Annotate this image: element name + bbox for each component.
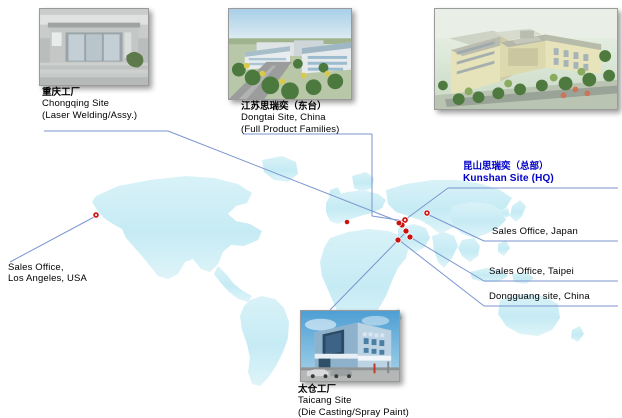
marker-japan (424, 210, 430, 216)
label-los-angeles-line1: Sales Office, (8, 262, 87, 273)
marker-los-angeles (93, 212, 99, 218)
label-chongqing-en: Chongqing Site (42, 98, 137, 109)
label-dongtai-detail: (Full Product Families) (241, 124, 339, 135)
marker-taicang (403, 228, 409, 234)
label-los-angeles-line2: Los Angeles, USA (8, 273, 87, 284)
label-dongtai-en: Dongtai Site, China (241, 112, 339, 123)
label-taicang-en: Taicang Site (298, 395, 409, 406)
label-taicang-detail: (Die Casting/Spray Paint) (298, 407, 409, 418)
global-site-map: 重庆工厂 Chongqing Site (Laser Welding/Assy.… (0, 0, 622, 418)
taipei-leader (410, 237, 484, 281)
label-chongqing-detail: (Laser Welding/Assy.) (42, 110, 137, 121)
label-taicang-cn: 太仓工厂 (298, 384, 409, 395)
label-chongqing-cn: 重庆工厂 (42, 87, 137, 98)
taicang-leader (330, 232, 406, 310)
label-dongtai: 江苏思瑞奕（东台） Dongtai Site, China (Full Prod… (241, 101, 339, 135)
label-los-angeles: Sales Office, Los Angeles, USA (8, 262, 87, 285)
los-angeles-leader (10, 216, 96, 262)
dongtai-leader (372, 134, 404, 221)
japan-leader (427, 214, 484, 241)
chongqing-leader (168, 131, 400, 222)
marker-taipei (407, 234, 413, 240)
dongtai-site-photo (228, 8, 352, 100)
chongqing-site-photo (39, 8, 149, 86)
label-chongqing: 重庆工厂 Chongqing Site (Laser Welding/Assy.… (42, 87, 137, 121)
marker-dongguang (395, 237, 401, 243)
label-kunshan-hq: 昆山思瑞奕（总部） Kunshan Site (HQ) (463, 161, 554, 185)
label-sales-office-taipei: Sales Office, Taipei (489, 266, 574, 278)
marker-chongqing (396, 220, 402, 226)
map-markers (93, 210, 430, 243)
marker-middle-east (344, 219, 349, 224)
label-kunshan-en: Kunshan Site (HQ) (463, 173, 554, 185)
label-sales-office-japan: Sales Office, Japan (492, 226, 578, 238)
kunshan-site-photo (434, 8, 618, 110)
taicang-site-photo (300, 310, 400, 382)
label-kunshan-cn: 昆山思瑞奕（总部） (463, 161, 554, 173)
label-dongguang-site: Dongguang site, China (489, 291, 590, 303)
label-taicang: 太仓工厂 Taicang Site (Die Casting/Spray Pai… (298, 384, 409, 418)
label-dongtai-cn: 江苏思瑞奕（东台） (241, 101, 339, 112)
